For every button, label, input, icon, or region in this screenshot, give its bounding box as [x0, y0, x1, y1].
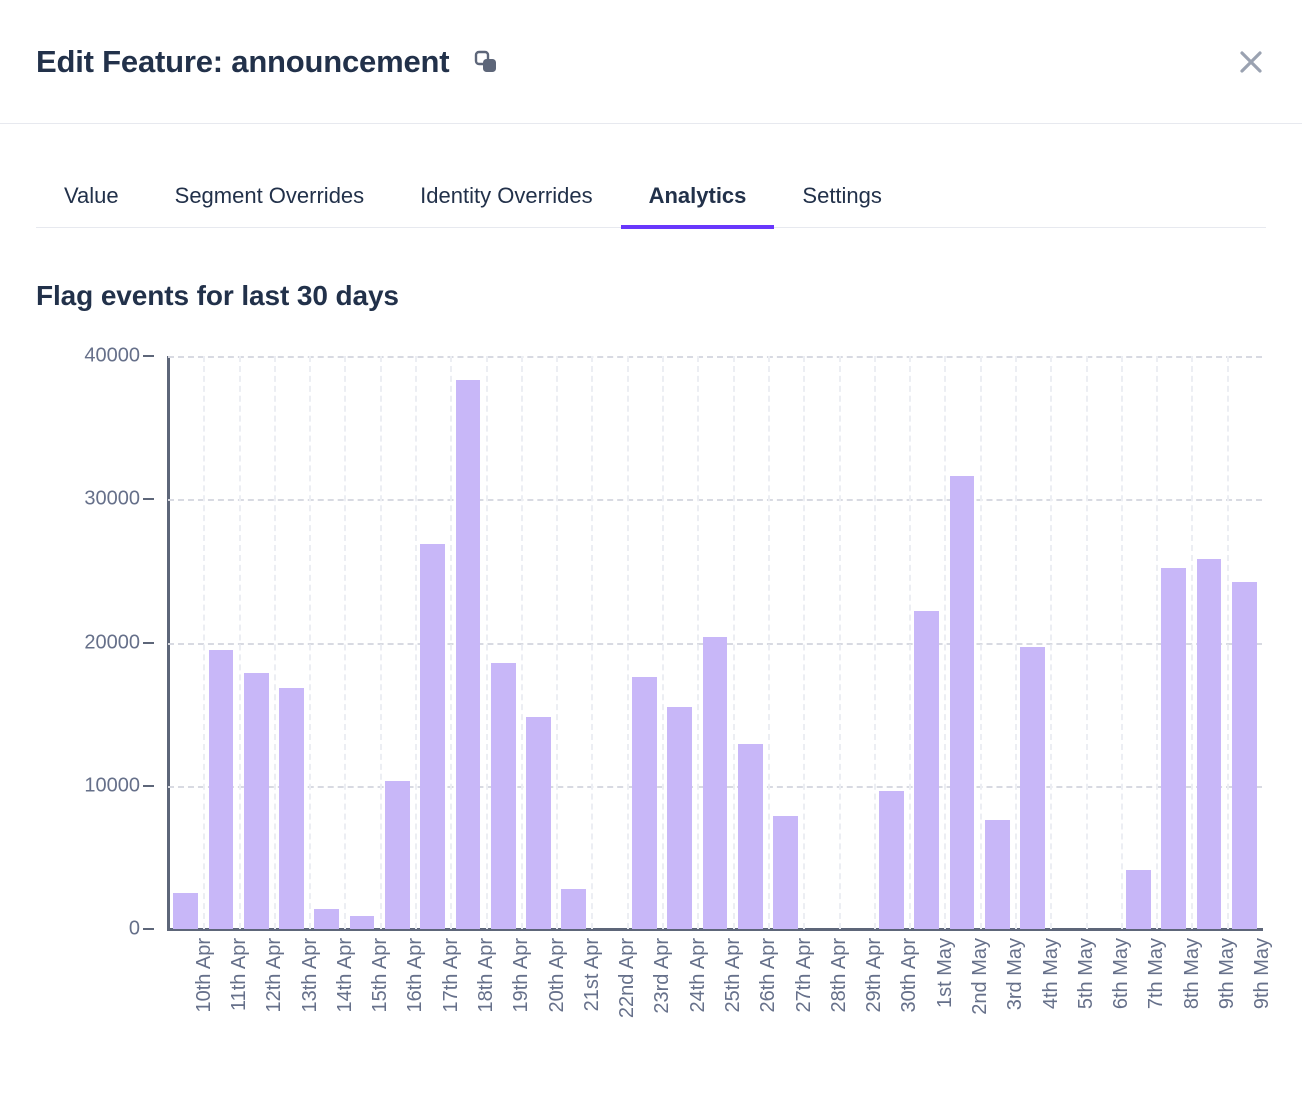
x-tick-label: 4th May	[1040, 938, 1063, 1009]
bar-series	[168, 356, 1262, 929]
tabs-container: Value Segment Overrides Identity Overrid…	[0, 158, 1302, 228]
bar[interactable]	[1197, 559, 1222, 929]
y-tick-mark	[143, 928, 154, 930]
y-tick-label: 30000	[84, 488, 140, 511]
x-tick-label: 17th Apr	[440, 938, 463, 1013]
x-tick-label: 21st Apr	[581, 938, 604, 1011]
bar[interactable]	[1020, 647, 1045, 929]
y-tick-mark	[143, 642, 154, 644]
x-tick-label: 29th Apr	[863, 938, 886, 1013]
bar[interactable]	[350, 916, 375, 929]
bar[interactable]	[420, 544, 445, 929]
tab-analytics[interactable]: Analytics	[621, 183, 775, 227]
chart-title: Flag events for last 30 days	[36, 280, 1302, 312]
x-tick-label: 11th Apr	[228, 938, 251, 1011]
y-tick-mark	[143, 785, 154, 787]
y-tick-label: 10000	[84, 774, 140, 797]
x-tick-label: 8th May	[1181, 938, 1204, 1009]
x-tick-label: 9th May	[1251, 938, 1274, 1009]
bar[interactable]	[914, 611, 939, 929]
bar[interactable]	[279, 688, 304, 929]
x-tick-label: 7th May	[1145, 938, 1168, 1009]
x-tick-label: 16th Apr	[404, 938, 427, 1013]
x-tick-label: 12th Apr	[263, 938, 286, 1013]
bar[interactable]	[526, 717, 551, 929]
modal-header: Edit Feature: announcement	[0, 0, 1302, 124]
copy-icon-glyph	[473, 49, 499, 75]
bar[interactable]	[703, 637, 728, 929]
bar[interactable]	[738, 744, 763, 929]
x-tick-label: 28th Apr	[828, 938, 851, 1013]
x-tick-label: 25th Apr	[722, 938, 745, 1013]
bar[interactable]	[561, 889, 586, 929]
bar[interactable]	[209, 650, 234, 929]
y-tick-label: 0	[129, 918, 140, 941]
tab-segment-overrides[interactable]: Segment Overrides	[147, 183, 393, 227]
bar[interactable]	[1161, 568, 1186, 929]
bar[interactable]	[173, 893, 198, 929]
x-tick-label: 10th Apr	[193, 938, 216, 1013]
x-tick-label: 26th Apr	[757, 938, 780, 1013]
close-icon	[1237, 48, 1265, 76]
x-tick-label: 24th Apr	[687, 938, 710, 1013]
bar[interactable]	[985, 820, 1010, 929]
y-tick-mark	[143, 355, 154, 357]
bar[interactable]	[879, 791, 904, 929]
tab-identity-overrides[interactable]: Identity Overrides	[392, 183, 620, 227]
x-tick-label: 19th Apr	[510, 938, 533, 1013]
y-tick-label: 40000	[84, 345, 140, 368]
x-tick-label: 1st May	[934, 938, 957, 1008]
x-tick-label: 30th Apr	[898, 938, 921, 1013]
x-tick-label: 15th Apr	[369, 938, 392, 1013]
x-tick-label: 20th Apr	[546, 938, 569, 1013]
bar[interactable]	[950, 476, 975, 929]
y-tick-label: 20000	[84, 631, 140, 654]
y-axis: 010000200003000040000	[36, 356, 154, 929]
x-tick-label: 27th Apr	[793, 938, 816, 1013]
x-tick-label: 3rd May	[1004, 938, 1027, 1010]
copy-icon[interactable]	[471, 47, 501, 77]
x-tick-label: 2nd May	[969, 938, 992, 1015]
x-tick-label: 18th Apr	[475, 938, 498, 1013]
tab-settings[interactable]: Settings	[774, 183, 910, 227]
page-title: Edit Feature: announcement	[36, 44, 449, 80]
bar[interactable]	[632, 677, 657, 929]
bar[interactable]	[1126, 870, 1151, 929]
x-tick-label: 13th Apr	[299, 938, 322, 1013]
x-tick-label: 9th May	[1216, 938, 1239, 1009]
bar[interactable]	[385, 781, 410, 929]
plot-area	[168, 356, 1262, 929]
bar[interactable]	[456, 380, 481, 929]
bar[interactable]	[244, 673, 269, 929]
tab-value[interactable]: Value	[36, 183, 147, 227]
flag-events-bar-chart: 010000200003000040000 10th Apr11th Apr12…	[36, 356, 1266, 1066]
bar[interactable]	[491, 663, 516, 929]
close-button[interactable]	[1234, 45, 1268, 79]
x-tick-label: 23rd Apr	[651, 938, 674, 1014]
y-tick-mark	[143, 498, 154, 500]
bar[interactable]	[314, 909, 339, 929]
bar[interactable]	[1232, 582, 1257, 929]
x-tick-label: 5th May	[1075, 938, 1098, 1009]
x-axis: 10th Apr11th Apr12th Apr13th Apr14th Apr…	[168, 938, 1262, 1068]
x-tick-label: 22nd Apr	[616, 938, 639, 1018]
x-tick-label: 14th Apr	[334, 938, 357, 1013]
bar[interactable]	[773, 816, 798, 929]
bar[interactable]	[667, 707, 692, 929]
tab-list: Value Segment Overrides Identity Overrid…	[36, 158, 1266, 228]
x-tick-label: 6th May	[1110, 938, 1133, 1009]
